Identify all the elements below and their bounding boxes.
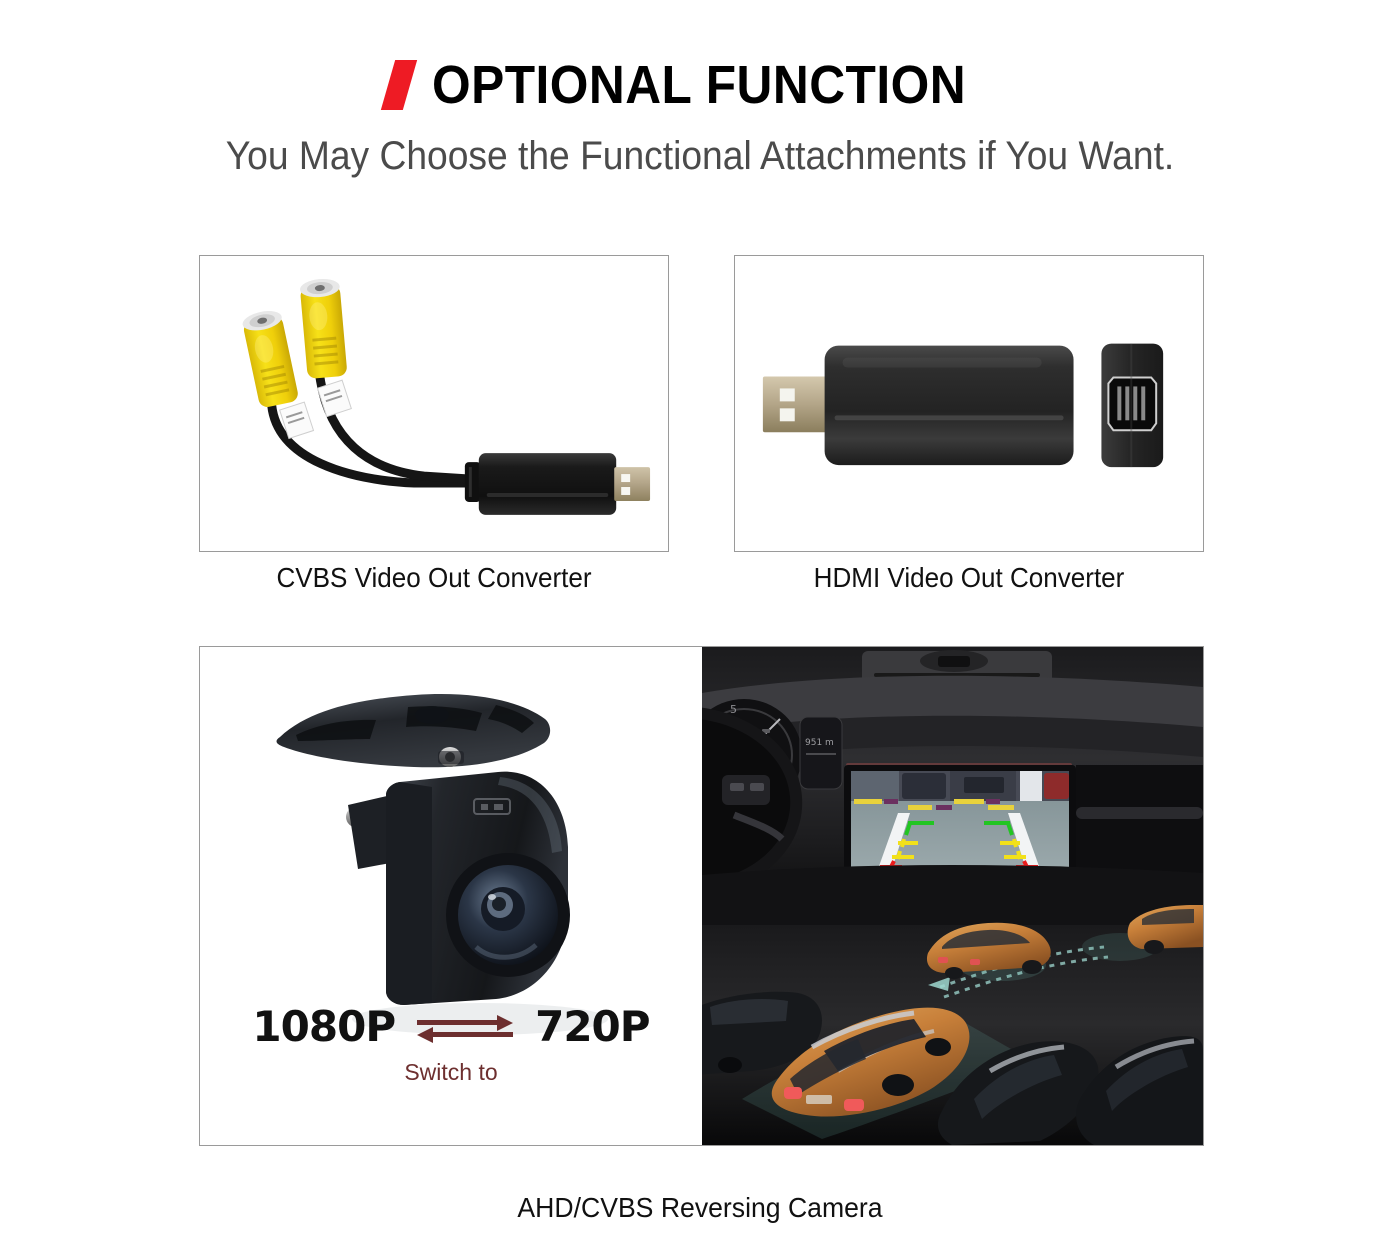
- fisheye-lens: [446, 853, 570, 977]
- page-subtitle: You May Choose the Functional Attachment…: [49, 134, 1351, 178]
- panel-captions-row: CVBS Video Out Converter HDMI Video Out …: [199, 562, 1204, 594]
- dashboard-and-parking-illustration: 5 6 7 8 951 m: [702, 647, 1203, 1145]
- switch-arrows-icon: [413, 1006, 517, 1048]
- caption-reversing-camera: AHD/CVBS Reversing Camera: [35, 1192, 1365, 1224]
- usb-a-plug-icon: [614, 467, 650, 501]
- camera-bracket: [277, 694, 551, 767]
- hdmi-converter-illustration: [735, 256, 1203, 552]
- panel-hdmi-converter: [734, 255, 1204, 552]
- resolution-switch-group: 1080P 720P Switch to: [200, 1002, 702, 1086]
- resolution-from-label: 1080P: [252, 1002, 395, 1051]
- red-slash-accent-icon: [381, 60, 417, 110]
- caption-cvbs-converter: CVBS Video Out Converter: [215, 562, 652, 594]
- page-header: OPTIONAL FUNCTION You May Choose the Fun…: [0, 0, 1400, 178]
- switch-to-note: Switch to: [200, 1059, 702, 1086]
- svg-text:5: 5: [730, 703, 737, 716]
- reversing-camera-display: [851, 771, 1069, 869]
- caption-hdmi-converter: HDMI Video Out Converter: [750, 562, 1187, 594]
- reversing-camera-block: 1080P 720P Switch to: [199, 646, 1204, 1146]
- svg-text:951 m: 951 m: [805, 738, 834, 748]
- panel-cvbs-converter: [199, 255, 669, 552]
- title-row: OPTIONAL FUNCTION: [0, 58, 1400, 112]
- cvbs-converter-illustration: [200, 256, 668, 552]
- rca-connector-left: [241, 308, 300, 409]
- resolution-to-label: 720P: [535, 1002, 649, 1051]
- rca-connector-right: [299, 277, 347, 379]
- product-panels-row: [199, 255, 1204, 552]
- resolution-switch-line: 1080P 720P: [200, 1002, 702, 1051]
- info-display: 951 m: [800, 717, 842, 789]
- parking-scene-photo: 5 6 7 8 951 m: [702, 647, 1203, 1145]
- page-title: OPTIONAL FUNCTION: [432, 58, 966, 112]
- usb-a-plug-icon: [763, 376, 829, 432]
- camera-product-photo: 1080P 720P Switch to: [200, 647, 702, 1145]
- hdmi-port-end-view: [1101, 344, 1163, 467]
